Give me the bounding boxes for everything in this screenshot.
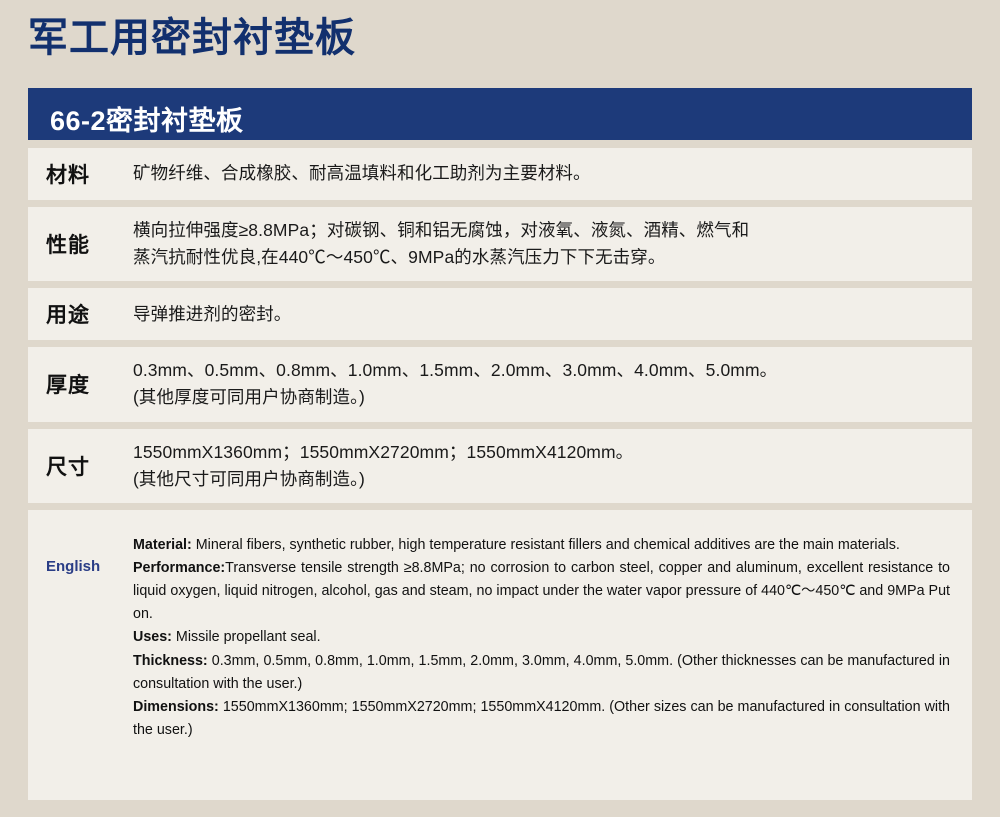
row-value-material: 矿物纤维、合成橡胶、耐高温填料和化工助剂为主要材料。 [133, 150, 972, 197]
spec-table: 材料 矿物纤维、合成橡胶、耐高温填料和化工助剂为主要材料。 性能 横向拉伸强度≥… [28, 148, 972, 807]
english-dimensions-paragraph: Dimensions: 1550mmX1360mm; 1550mmX2720mm… [133, 696, 950, 742]
english-material-text: Mineral fibers, synthetic rubber, high t… [192, 537, 900, 553]
table-row-english: English Material: Mineral fibers, synthe… [28, 510, 972, 800]
row-label-performance: 性能 [28, 229, 133, 259]
row-value-line: 导弹推进剂的密封。 [133, 301, 952, 328]
table-row: 材料 矿物纤维、合成橡胶、耐高温填料和化工助剂为主要材料。 [28, 148, 972, 200]
english-performance-text: Transverse tensile strength ≥8.8MPa; no … [133, 560, 950, 622]
product-spec-page: 军工用密封衬垫板 66-2密封衬垫板 材料 矿物纤维、合成橡胶、耐高温填料和化工… [0, 0, 1000, 817]
english-dimensions-text: 1550mmX1360mm; 1550mmX2720mm; 1550mmX412… [133, 699, 950, 738]
english-uses-text: Missile propellant seal. [172, 629, 321, 645]
row-label-use: 用途 [28, 299, 133, 329]
english-material-label: Material: [133, 537, 192, 553]
row-value-line: (其他厚度可同用户协商制造。) [133, 384, 952, 411]
table-row: 厚度 0.3mm、0.5mm、0.8mm、1.0mm、1.5mm、2.0mm、3… [28, 347, 972, 421]
table-row: 用途 导弹推进剂的密封。 [28, 288, 972, 340]
row-value-thickness: 0.3mm、0.5mm、0.8mm、1.0mm、1.5mm、2.0mm、3.0m… [133, 347, 972, 421]
english-uses-label: Uses: [133, 629, 172, 645]
row-value-line: 矿物纤维、合成橡胶、耐高温填料和化工助剂为主要材料。 [133, 160, 952, 187]
row-label-thickness: 厚度 [28, 369, 133, 399]
row-value-performance: 横向拉伸强度≥8.8MPa；对碳钢、铜和铝无腐蚀，对液氧、液氮、酒精、燃气和 蒸… [133, 207, 972, 281]
english-dimensions-label: Dimensions: [133, 699, 219, 715]
row-value-line: 1550mmX1360mm；1550mmX2720mm；1550mmX4120m… [133, 439, 952, 466]
english-body: Material: Mineral fibers, synthetic rubb… [133, 510, 972, 764]
table-row: 性能 横向拉伸强度≥8.8MPa；对碳钢、铜和铝无腐蚀，对液氧、液氮、酒精、燃气… [28, 207, 972, 281]
english-material-paragraph: Material: Mineral fibers, synthetic rubb… [133, 534, 950, 557]
table-row: 尺寸 1550mmX1360mm；1550mmX2720mm；1550mmX41… [28, 429, 972, 503]
row-value-line: (其他尺寸可同用户协商制造。) [133, 466, 952, 493]
english-thickness-text: 0.3mm, 0.5mm, 0.8mm, 1.0mm, 1.5mm, 2.0mm… [133, 653, 950, 692]
english-performance-label: Performance: [133, 560, 225, 576]
english-performance-paragraph: Performance:Transverse tensile strength … [133, 557, 950, 626]
english-thickness-paragraph: Thickness: 0.3mm, 0.5mm, 0.8mm, 1.0mm, 1… [133, 650, 950, 696]
section-header-bar: 66-2密封衬垫板 [28, 88, 972, 140]
english-thickness-label: Thickness: [133, 653, 208, 669]
row-value-use: 导弹推进剂的密封。 [133, 291, 972, 338]
row-value-line: 蒸汽抗耐性优良,在440℃～450℃、9MPa的水蒸汽压力下下无击穿。 [133, 244, 952, 271]
english-uses-paragraph: Uses: Missile propellant seal. [133, 626, 950, 649]
row-value-line: 横向拉伸强度≥8.8MPa；对碳钢、铜和铝无腐蚀，对液氧、液氮、酒精、燃气和 [133, 217, 952, 244]
page-title: 军工用密封衬垫板 [28, 14, 356, 62]
row-value-size: 1550mmX1360mm；1550mmX2720mm；1550mmX4120m… [133, 429, 972, 503]
row-label-english: English [28, 510, 133, 575]
section-header-title: 66-2密封衬垫板 [50, 99, 244, 138]
row-label-material: 材料 [28, 159, 133, 189]
row-value-line: 0.3mm、0.5mm、0.8mm、1.0mm、1.5mm、2.0mm、3.0m… [133, 357, 952, 384]
row-label-size: 尺寸 [28, 451, 133, 481]
